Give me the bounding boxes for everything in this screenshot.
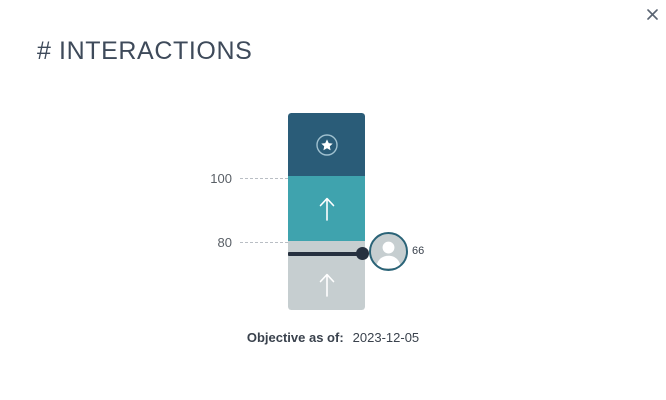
star-circle-icon xyxy=(314,132,340,158)
arrow-up-icon xyxy=(314,196,340,222)
value-marker-line xyxy=(288,252,364,256)
objective-date: 2023-12-05 xyxy=(353,330,420,345)
arrow-up-icon xyxy=(314,272,340,298)
axis-tick-label: 80 xyxy=(180,235,232,251)
axis-tick-label: 100 xyxy=(180,171,232,187)
axis-leader-line xyxy=(240,242,288,244)
axis-leader-line xyxy=(240,178,288,180)
axis-tick-80: 80 xyxy=(180,235,288,251)
axis-tick-100: 100 xyxy=(180,171,288,187)
segment-above-target[interactable] xyxy=(288,113,365,176)
value-marker-dot[interactable] xyxy=(356,247,369,260)
person-avatar-icon[interactable] xyxy=(369,232,408,271)
interactions-card: # INTERACTIONS xyxy=(0,0,666,400)
segment-target-band[interactable] xyxy=(288,176,365,241)
objective-caption: Objective as of: 2023-12-05 xyxy=(0,330,666,345)
objective-label: Objective as of: xyxy=(247,330,344,345)
value-label: 66 xyxy=(412,245,424,257)
bar-stack xyxy=(288,113,365,310)
